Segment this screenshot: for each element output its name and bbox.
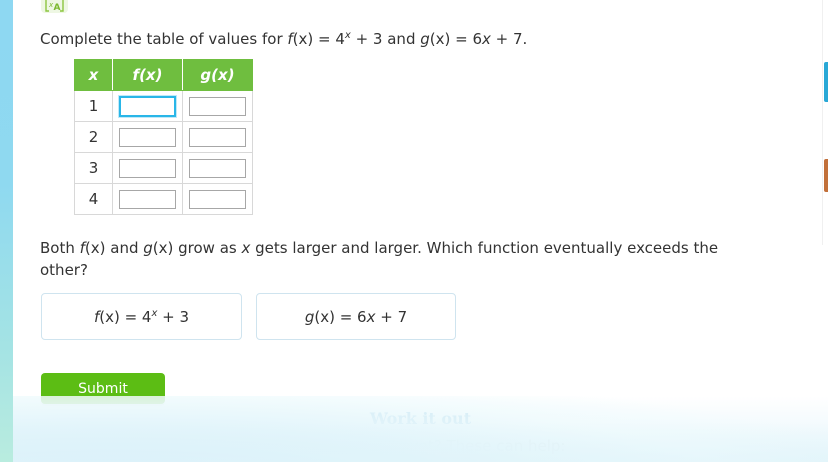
table-row: 3 (75, 153, 253, 184)
cell-gx-input[interactable] (183, 122, 253, 153)
fx-input-row4[interactable] (119, 190, 176, 209)
table-row: 2 (75, 122, 253, 153)
column-header-gx-args: (x) (211, 66, 234, 84)
cell-gx-input[interactable] (183, 153, 253, 184)
cell-x-value: 3 (75, 153, 113, 184)
prompt-f-args: (x) = 4 (293, 30, 345, 48)
prompt-lead: Complete the table of values for (40, 30, 287, 48)
cell-fx-input[interactable] (113, 153, 183, 184)
prompt-g-tail: + 7. (491, 30, 527, 48)
choice-gx-var: x (367, 308, 376, 326)
cell-fx-input[interactable] (113, 184, 183, 215)
cell-x-value: 4 (75, 184, 113, 215)
table-header-row: x f(x) g(x) (75, 60, 253, 91)
prompt-g-name: g (420, 30, 430, 48)
choice-fx-text: f(x) = 4x + 3 (94, 308, 189, 326)
choice-fx-tail: + 3 (157, 308, 189, 326)
cell-fx-input[interactable] (113, 91, 183, 122)
q2-part1: Both (40, 239, 80, 257)
work-it-out-heading: Work it out (13, 408, 828, 430)
cell-gx-input[interactable] (183, 91, 253, 122)
content-area: x A Complete the table of values for f(x… (13, 0, 828, 462)
prompt-g-args: (x) = 6 (430, 30, 482, 48)
table-row: 4 (75, 184, 253, 215)
column-header-gx-name: g (200, 66, 211, 84)
column-header-fx: f(x) (113, 60, 183, 91)
fx-input-row3[interactable] (119, 159, 176, 178)
prompt-f-tail: + 3 and (351, 30, 420, 48)
choice-gx-tail: + 7 (376, 308, 408, 326)
column-header-x: x (75, 60, 113, 91)
svg-text:A: A (54, 3, 61, 13)
choice-gx-name: g (305, 308, 315, 326)
fx-input-row2[interactable] (119, 128, 176, 147)
table-row: 1 (75, 91, 253, 122)
choice-gx-args: (x) = 6 (314, 308, 366, 326)
cell-fx-input[interactable] (113, 122, 183, 153)
prompt-g-var: x (482, 30, 491, 48)
cell-x-value: 2 (75, 122, 113, 153)
gx-input-row4[interactable] (189, 190, 246, 209)
values-table: x f(x) g(x) 1 2 (74, 59, 253, 215)
gx-input-row3[interactable] (189, 159, 246, 178)
cell-x-value: 1 (75, 91, 113, 122)
answer-choice-fx[interactable]: f(x) = 4x + 3 (41, 293, 242, 340)
exercise-page: x A Complete the table of values for f(x… (0, 0, 828, 462)
choice-fx-args: (x) = 4 (99, 308, 151, 326)
right-edge-tab-blue[interactable] (824, 62, 828, 102)
cell-gx-input[interactable] (183, 184, 253, 215)
answer-choice-gx[interactable]: g(x) = 6x + 7 (256, 293, 456, 340)
work-it-out-subtext: Not feeling ready yet? These can help: (13, 436, 828, 456)
column-header-x-label: x (89, 66, 99, 84)
submit-button[interactable]: Submit (41, 373, 165, 404)
column-header-gx: g(x) (183, 60, 253, 91)
gx-input-row1[interactable] (189, 97, 246, 116)
right-panel-divider (822, 0, 823, 245)
fx-input-row1[interactable] (119, 96, 176, 117)
gx-input-row2[interactable] (189, 128, 246, 147)
left-edge-rail (0, 0, 13, 462)
q2-part2: (x) and (85, 239, 143, 257)
exponent-tool-icon[interactable]: x A (41, 0, 68, 13)
column-header-fx-args: (x) (139, 66, 162, 84)
right-edge-tab-orange[interactable] (824, 159, 828, 192)
work-it-out-section: Work it out Not feeling ready yet? These… (13, 408, 828, 456)
prompt-text: Complete the table of values for f(x) = … (40, 26, 527, 49)
q2-g: g (143, 239, 153, 257)
choice-gx-text: g(x) = 6x + 7 (305, 308, 407, 326)
q2-part3: (x) grow as (153, 239, 242, 257)
followup-question-text: Both f(x) and g(x) grow as x gets larger… (40, 237, 720, 281)
